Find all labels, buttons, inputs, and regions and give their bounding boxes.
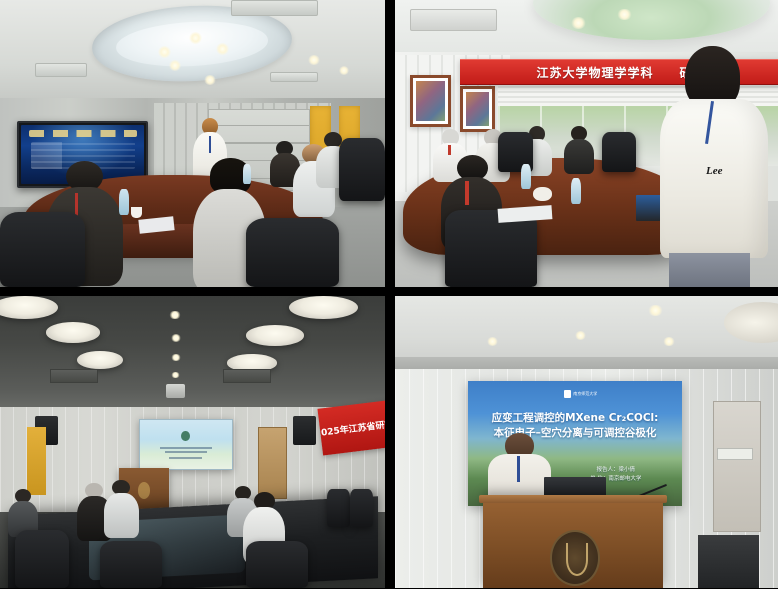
photo-collage: 江苏大学物理学学科 研讨 xyxy=(0,0,778,588)
university-emblem xyxy=(181,431,190,442)
presenter-lanyard xyxy=(517,456,520,482)
ceiling-spot-3 xyxy=(216,43,229,55)
paper-cup xyxy=(131,207,143,218)
photo-bottom-right: 南京师范大学 应变工程调控的MXene Cr₂COCl: 本征电子–空穴分离与可… xyxy=(395,296,778,588)
seated-person-left-1 xyxy=(8,489,39,536)
podium xyxy=(483,495,663,588)
floor-speaker-box xyxy=(698,535,759,588)
ceiling-spot-2 xyxy=(171,334,181,342)
photo-top-left xyxy=(0,0,385,287)
wall-sign xyxy=(717,448,753,460)
gutter-vertical-bottom xyxy=(385,296,395,588)
person-lanyard xyxy=(465,181,469,205)
side-chair-2 xyxy=(350,489,373,527)
water-bottle-2 xyxy=(571,178,581,204)
university-logo: 南京师范大学 xyxy=(564,388,598,401)
water-bottle-1 xyxy=(119,189,129,215)
ac-vent-ceiling xyxy=(410,9,496,31)
lee-logo: Lee xyxy=(706,152,757,191)
seated-person-4 xyxy=(564,126,595,172)
slide-line-2 xyxy=(165,451,207,453)
ac-vent-right xyxy=(270,72,318,83)
ceiling-spot-2 xyxy=(189,32,202,44)
person-torso xyxy=(564,139,595,174)
ac-vent-left xyxy=(50,369,98,383)
ceiling-spot-6 xyxy=(308,55,320,65)
ceiling-spot-2 xyxy=(487,337,498,346)
foreground-chair-1 xyxy=(15,530,69,588)
presenter-jeans xyxy=(669,253,749,287)
photo-top-right: 江苏大学物理学学科 研讨 xyxy=(395,0,778,287)
room-door xyxy=(713,401,761,531)
slide-presenter-line: 报告人：梁小倩 xyxy=(566,466,665,475)
ac-vent-left xyxy=(35,63,87,76)
wall-artwork-1 xyxy=(410,75,450,127)
person-torso xyxy=(104,493,139,537)
office-chair-back-right xyxy=(339,138,385,201)
slide-title-line-1: 应变工程调控的MXene Cr₂COCl: xyxy=(481,411,670,426)
presenter-lanyard xyxy=(209,136,211,153)
gutter-vertical-top xyxy=(385,0,395,287)
photo-bottom-right-image: 南京师范大学 应变工程调控的MXene Cr₂COCl: 本征电子–空穴分离与可… xyxy=(395,296,778,588)
photo-top-left-image xyxy=(0,0,385,287)
water-bottle-2 xyxy=(243,164,251,184)
ceiling-light-3 xyxy=(77,351,123,369)
gutter-horizontal-left xyxy=(0,287,385,296)
gutter-center xyxy=(385,287,395,296)
ceiling-spot-4 xyxy=(663,337,674,346)
office-chair-foreground-right xyxy=(246,218,338,287)
ac-vent-right xyxy=(223,369,271,383)
side-chair-1 xyxy=(327,489,350,527)
wooden-door xyxy=(258,427,287,499)
person-lanyard xyxy=(448,145,451,155)
ceiling-projector xyxy=(166,384,185,399)
teapot xyxy=(533,187,552,201)
red-banner: 2025年江苏省研究生 xyxy=(317,400,385,456)
ceiling-spot-1 xyxy=(571,17,586,28)
podium-top xyxy=(479,495,666,503)
banner-text: 2025年江苏省研究生 xyxy=(317,416,385,440)
ac-vent-top xyxy=(231,0,318,16)
ceiling-spot-4 xyxy=(169,60,181,70)
slide-line-3 xyxy=(169,457,202,459)
foreground-chair-2 xyxy=(100,541,162,588)
photo-top-right-image: 江苏大学物理学学科 研讨 xyxy=(395,0,778,287)
ceiling-spot-3 xyxy=(575,331,586,340)
photo-bottom-left-image: 2025年江苏省研究生 xyxy=(0,296,385,588)
yellow-door xyxy=(27,427,46,494)
wall-speaker-right xyxy=(293,416,316,445)
seated-person-left-3 xyxy=(104,480,139,535)
foreground-chair-3 xyxy=(246,541,308,588)
projection-screen xyxy=(139,419,233,471)
slide-line-1 xyxy=(160,447,212,449)
standing-presenter: Lee xyxy=(655,46,770,287)
water-bottle-1 xyxy=(521,164,531,190)
office-chair-foreground-left xyxy=(0,212,85,287)
ceiling-spot-1 xyxy=(158,46,171,58)
office-chair-2 xyxy=(602,132,636,172)
ceiling-spot-7 xyxy=(339,66,349,75)
wall-artwork-2 xyxy=(460,86,495,132)
podium-emblem xyxy=(550,530,601,586)
gutter-horizontal-right xyxy=(395,287,778,296)
ceiling-light-2 xyxy=(46,322,100,342)
university-logo-text: 南京师范大学 xyxy=(573,391,597,397)
ceiling-spot-5 xyxy=(204,75,216,85)
photo-bottom-left: 2025年江苏省研究生 xyxy=(0,296,385,588)
ceiling-light-5 xyxy=(246,325,304,345)
